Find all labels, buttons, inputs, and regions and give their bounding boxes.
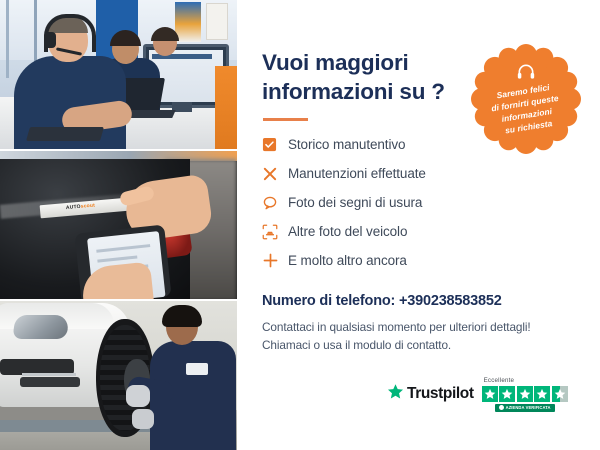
photo-column: AUTOscout (0, 0, 237, 450)
vehicle-inspection-ruler-photo: AUTOscout (0, 149, 237, 300)
car-headlight (12, 315, 69, 339)
trustpilot-star-filled (534, 386, 550, 402)
wall-poster (175, 2, 201, 42)
mechanic-wheel-check-photo (0, 299, 237, 450)
verified-check-icon (499, 405, 504, 410)
page-title: Vuoi maggiori informazioni su ? (262, 49, 477, 107)
phone-number-line[interactable]: Numero di telefono: +390238583852 (262, 293, 502, 309)
trustpilot-rating-label: Eccellente (484, 377, 515, 384)
trustpilot-wordmark: Trustpilot (407, 385, 474, 403)
mechanic-glove-lower (132, 409, 154, 429)
list-item-label: Manutenzioni effettuate (288, 166, 426, 181)
contact-subtext-line-2: Chiamaci o usa il modulo di contatto. (262, 336, 592, 354)
crossed-tools-icon (262, 166, 288, 182)
mechanic-glove-upper (126, 385, 150, 407)
feature-list: Storico manutentivo Manutenzioni effettu… (262, 130, 582, 275)
window-frame (6, 0, 9, 78)
trustpilot-star-half (552, 386, 568, 402)
trustpilot-logo: Trustpilot (387, 383, 474, 405)
call-center-agents-photo (0, 0, 237, 149)
trustpilot-star-filled (499, 386, 515, 402)
contact-subtext: Contattaci in qualsiasi momento per ulte… (262, 318, 592, 355)
speech-bubble-icon (262, 195, 288, 211)
list-item-label: E molto altro ancora (288, 253, 407, 268)
desk-keyboard (26, 127, 104, 141)
list-item: Manutenzioni effettuate (262, 159, 582, 188)
tablet-text-line (97, 255, 137, 262)
list-item-label: Altre foto del veicolo (288, 224, 407, 239)
mechanic-hair (162, 305, 202, 327)
list-item-label: Storico manutentivo (288, 137, 405, 152)
plus-icon (262, 252, 288, 269)
verified-business-label: AZIENDA VERIFICATA (506, 405, 551, 410)
wall-poster-secondary (206, 3, 228, 40)
trustpilot-star-filled (482, 386, 498, 402)
contact-subtext-line-1: Contattaci in qualsiasi momento per ulte… (262, 318, 592, 336)
list-item-label: Foto dei segni di usura (288, 195, 422, 210)
trustpilot-star-filled (517, 386, 533, 402)
car-focus-frame-icon (262, 224, 288, 240)
verified-business-badge: AZIENDA VERIFICATA (495, 404, 555, 412)
mechanic-uniform-badge (186, 363, 208, 375)
tablet-text-line (96, 244, 150, 253)
checkbox-checked-icon (262, 137, 288, 152)
trustpilot-star-icon (387, 383, 404, 405)
content-panel: Vuoi maggiori informazioni su ? (237, 0, 600, 450)
trustpilot-stars (482, 386, 568, 402)
headset-icon (516, 62, 536, 82)
title-divider (263, 118, 308, 121)
ruler-brand-label: AUTOscout (66, 202, 96, 211)
agent-headset-earcup (44, 32, 56, 48)
list-item: Altre foto del veicolo (262, 217, 582, 246)
list-item: E molto altro ancora (262, 246, 582, 275)
trustpilot-score-block: Eccellente (482, 377, 568, 412)
promo-banner: AUTOscout (0, 0, 600, 450)
list-item: Foto dei segni di usura (262, 188, 582, 217)
trustpilot-rating[interactable]: Trustpilot Eccellente (387, 368, 592, 420)
orange-equipment (215, 66, 237, 149)
car-grille-lower (20, 377, 80, 387)
list-item: Storico manutentivo (262, 130, 582, 159)
car-chrome-trim (22, 373, 76, 376)
